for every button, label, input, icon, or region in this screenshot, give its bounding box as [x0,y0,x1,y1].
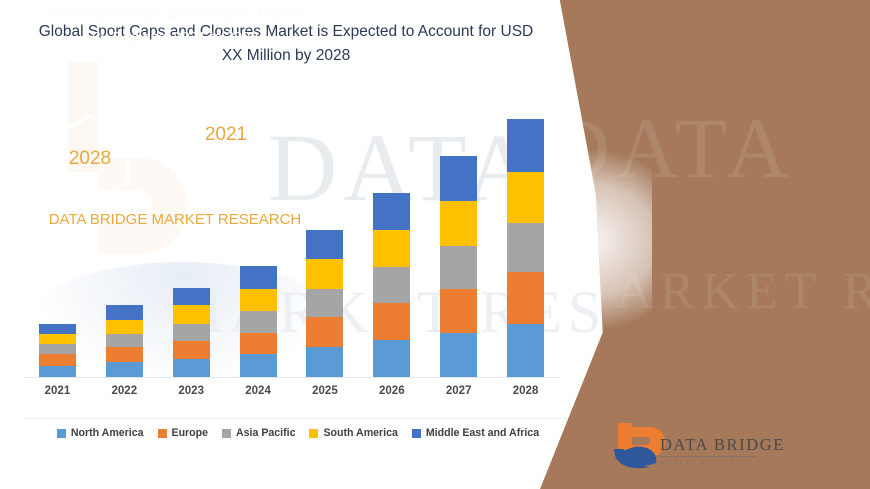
stacked-bar[interactable] [173,288,210,377]
bar-segment[interactable] [440,333,477,377]
stacked-bar[interactable] [240,266,277,377]
bar-segment[interactable] [373,340,410,377]
bar-segment[interactable] [440,156,477,201]
legend-label: South America [323,427,397,439]
bar-segment[interactable] [507,172,544,223]
stacked-bar[interactable] [39,324,76,377]
x-axis-tick-label: 2028 [492,385,559,397]
legend-item[interactable]: South America [309,427,397,439]
bar-segment[interactable] [173,359,210,377]
bar-segment[interactable] [373,267,410,303]
stacked-bar[interactable] [106,305,143,377]
panel-watermark-secondary: MARKET RESEARCH [562,262,870,321]
bar-segment[interactable] [373,230,410,267]
bar-segment[interactable] [440,201,477,245]
legend-swatch-icon [57,429,66,438]
logo-name: DATA BRIDGE [660,435,785,455]
bar-segment[interactable] [306,317,343,347]
bar-segment[interactable] [240,354,277,377]
right-info-panel: DATA MARKET RESEARCH [540,0,870,489]
bar-segment[interactable] [39,324,76,334]
legend-item[interactable]: North America [57,427,144,439]
hex-badge-group: 2021 2028 [38,86,318,194]
x-axis-tick-label: 2025 [292,385,359,397]
legend-label: Europe [172,427,209,439]
bar-segment[interactable] [39,344,76,354]
svg-text:2021: 2021 [205,124,247,145]
logo-underline [660,456,756,457]
svg-text:2028: 2028 [69,148,111,169]
bar-segment[interactable] [106,362,143,377]
bar-segment[interactable] [39,354,76,365]
bar-segment[interactable] [173,305,210,323]
x-axis-tick-label: 2024 [225,385,292,397]
bar-segment[interactable] [173,324,210,341]
legend-swatch-icon [309,429,318,438]
bar-segment[interactable] [240,311,277,333]
bar-segment[interactable] [240,289,277,312]
bar-segment[interactable] [507,324,544,377]
chart-legend: North AmericaEuropeAsia PacificSouth Ame… [24,418,572,439]
bar-segment[interactable] [306,259,343,289]
bar-segment[interactable] [507,223,544,272]
legend-item[interactable]: Middle East and Africa [412,427,539,439]
bar-segment[interactable] [106,334,143,347]
bar-segment[interactable] [306,230,343,259]
bar-segment[interactable] [240,266,277,289]
bar-slot [425,110,492,377]
x-axis-tick-label: 2022 [91,385,158,397]
legend-label: North America [71,427,144,439]
bar-segment[interactable] [240,333,277,355]
bar-segment[interactable] [507,119,544,171]
legend-swatch-icon [222,429,231,438]
panel-brand-text: DATA BRIDGE MARKET RESEARCH [30,207,320,232]
panel-watermark-primary: DATA [548,98,870,198]
bar-segment[interactable] [373,303,410,340]
logo-tagline: MARKET RESEARCH [661,461,748,467]
bar-segment[interactable] [106,305,143,319]
stacked-bar[interactable] [373,193,410,377]
stacked-bar[interactable] [306,230,343,377]
bar-segment[interactable] [39,366,76,377]
bar-segment[interactable] [440,246,477,289]
x-axis-labels: 20212022202320242025202620272028 [24,385,559,397]
x-axis-tick-label: 2027 [425,385,492,397]
bar-segment[interactable] [306,347,343,377]
legend-item[interactable]: Europe [158,427,209,439]
bar-segment[interactable] [173,288,210,305]
stacked-bar[interactable] [507,119,544,377]
panel-title: Global Sport Caps and Closures Market, B… [36,4,314,50]
bar-segment[interactable] [373,193,410,230]
x-axis-tick-label: 2021 [24,385,91,397]
bar-segment[interactable] [106,320,143,334]
legend-item[interactable]: Asia Pacific [222,427,295,439]
stacked-bar[interactable] [440,156,477,377]
legend-swatch-icon [158,429,167,438]
bar-slot [358,110,425,377]
bar-segment[interactable] [173,341,210,358]
bar-segment[interactable] [507,272,544,323]
x-axis-line [24,377,559,378]
bar-segment[interactable] [440,289,477,333]
legend-label: Asia Pacific [236,427,295,439]
slide-canvas: DATA MARKET RESEARCH Global Sport Caps a… [0,0,870,489]
legend-swatch-icon [412,429,421,438]
bar-segment[interactable] [106,347,143,361]
bar-slot [492,110,559,377]
bar-segment[interactable] [39,334,76,344]
x-axis-tick-label: 2026 [358,385,425,397]
bar-segment[interactable] [306,289,343,318]
x-axis-tick-label: 2023 [158,385,225,397]
legend-label: Middle East and Africa [426,427,539,439]
